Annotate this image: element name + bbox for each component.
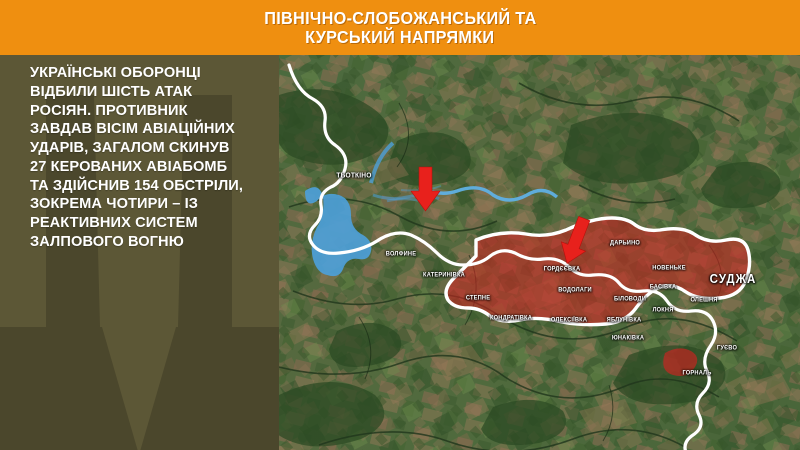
summary-line: ЗАВДАВ ВІСІМ АВІАЦІЙНИХ	[30, 120, 267, 139]
infographic-map-screenshot: ПІВНІЧНО-СЛОБОЖАНСЬКИЙ ТА КУРСЬКИЙ НАПРЯ…	[0, 0, 800, 450]
summary-line: РЕАКТИВНИХ СИСТЕМ	[30, 214, 267, 233]
summary-text: УКРАЇНСЬКІ ОБОРОНЦІ ВІДБИЛИ ШІСТЬ АТАК Р…	[0, 55, 279, 252]
header-title-line-1: ПІВНІЧНО-СЛОБОЖАНСЬКИЙ ТА	[264, 9, 536, 27]
summary-line: ЗАЛПОВОГО ВОГНЮ	[30, 233, 267, 252]
summary-line: ТА ЗДІЙСНИВ 154 ОБСТРІЛИ,	[30, 177, 267, 196]
summary-line: УДАРІВ, ЗАГАЛОМ СКИНУВ	[30, 139, 267, 158]
summary-line: ЗОКРЕМА ЧОТИРИ – ІЗ	[30, 195, 267, 214]
map-satellite-imagery	[279, 55, 800, 450]
header-title-line-2: КУРСЬКИЙ НАПРЯМКИ	[305, 28, 494, 46]
summary-side-panel: УКРАЇНСЬКІ ОБОРОНЦІ ВІДБИЛИ ШІСТЬ АТАК Р…	[0, 55, 279, 450]
summary-line: 27 КЕРОВАНИХ АВІАБОМБ	[30, 158, 267, 177]
header-banner: ПІВНІЧНО-СЛОБОЖАНСЬКИЙ ТА КУРСЬКИЙ НАПРЯ…	[0, 0, 800, 55]
summary-line: ВІДБИЛИ ШІСТЬ АТАК	[30, 83, 267, 102]
summary-line: УКРАЇНСЬКІ ОБОРОНЦІ	[30, 64, 267, 83]
satellite-map[interactable]: ТЬОТКІНО ВОЛФИНЕ КАТЕРИНІВКА СТЕПНЕ ДАРЬ…	[279, 55, 800, 450]
summary-line: РОСІЯН. ПРОТИВНИК	[30, 102, 267, 121]
